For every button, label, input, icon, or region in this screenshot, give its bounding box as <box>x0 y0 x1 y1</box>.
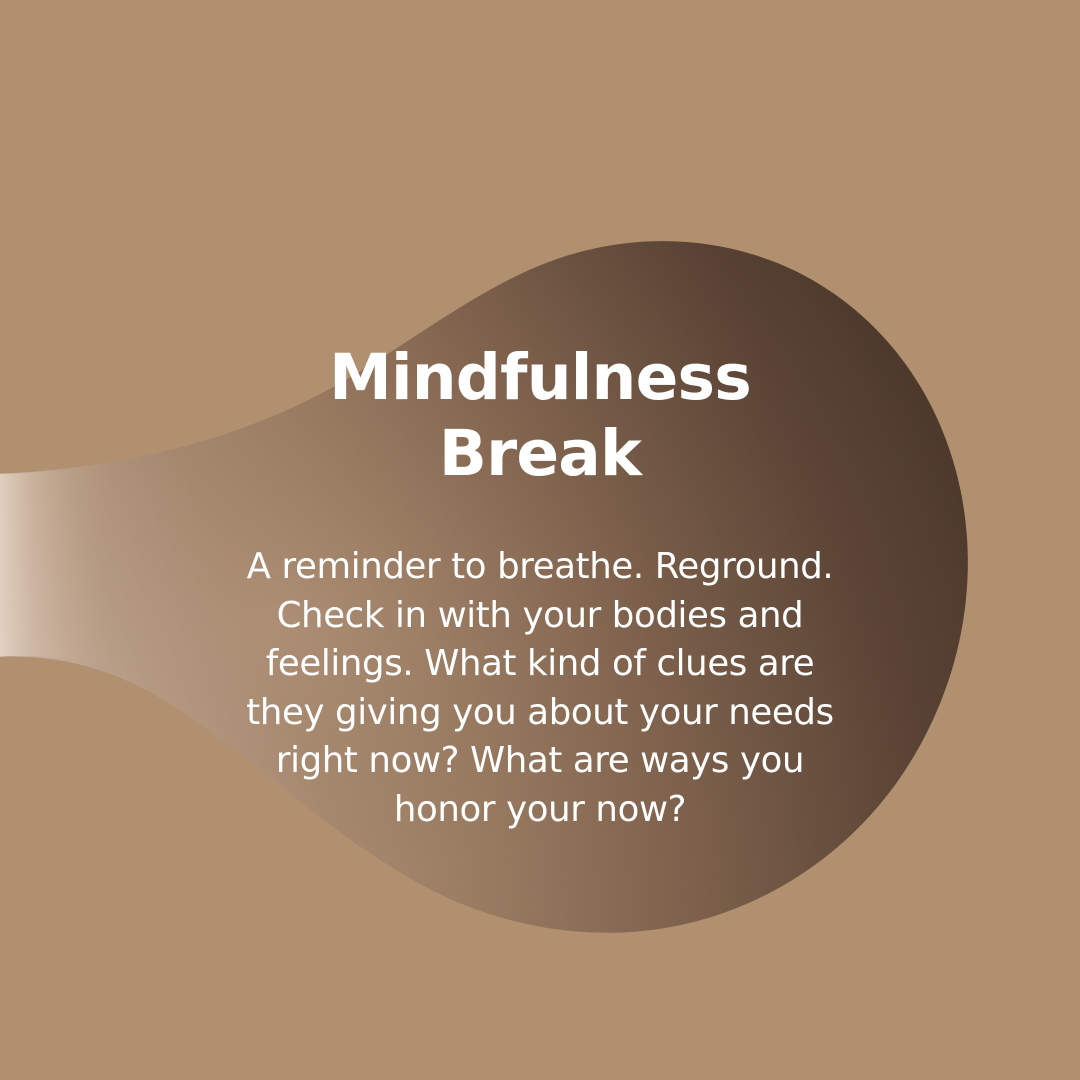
body-paragraph: A reminder to breathe. Reground. Check i… <box>230 543 850 834</box>
quote-card-canvas: Mindfulness Break A reminder to breathe.… <box>0 0 1080 1080</box>
card-content: Mindfulness Break A reminder to breathe.… <box>0 0 1080 1080</box>
page-title: Mindfulness Break <box>0 340 1080 492</box>
